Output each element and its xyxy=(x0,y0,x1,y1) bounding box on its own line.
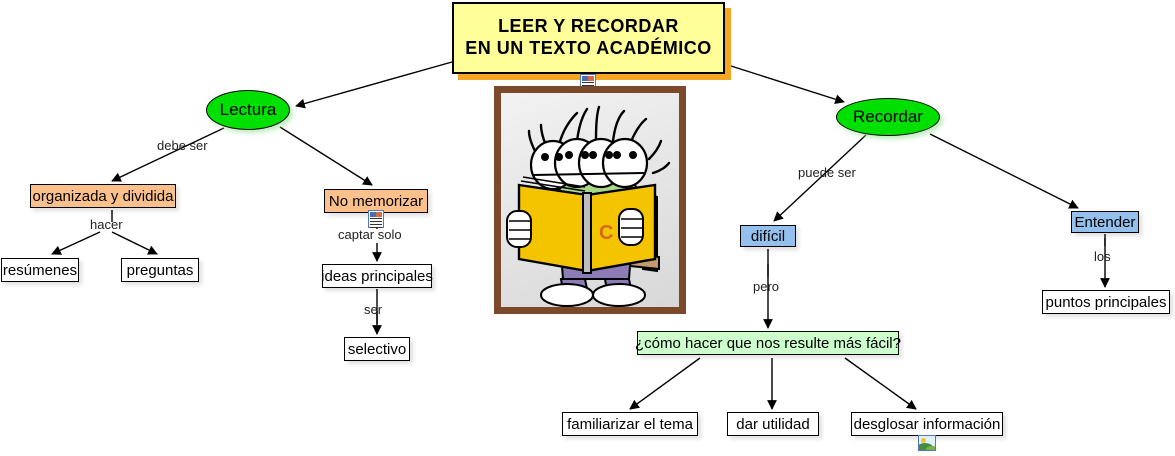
node-como-hacer[interactable]: ¿cómo hacer que nos resulte más fácil? xyxy=(637,331,899,355)
node-organizada-y-dividida[interactable]: organizada y dividida xyxy=(30,184,176,208)
document-icon[interactable] xyxy=(368,210,384,228)
image-icon[interactable] xyxy=(918,435,936,451)
edge-organizada-preguntas xyxy=(112,232,157,254)
node-familiarizar-label: familiarizar el tema xyxy=(567,416,693,433)
edge-lectura-nomemorizar xyxy=(280,127,372,185)
node-selectivo[interactable]: selectivo xyxy=(344,337,410,361)
node-preguntas[interactable]: preguntas xyxy=(121,258,199,282)
edge-title-lectura xyxy=(296,62,452,106)
node-como-hacer-label: ¿cómo hacer que nos resulte más fácil? xyxy=(635,335,901,352)
node-puntos-principales-label: puntos principales xyxy=(1046,294,1167,311)
edge-lectura-organizada xyxy=(112,128,224,181)
title-line-2: EN UN TEXTO ACADÉMICO xyxy=(465,38,712,60)
edge-label-hacer: hacer xyxy=(90,217,123,232)
edge-label-captar-solo: captar solo xyxy=(338,227,402,242)
concept-map-canvas: LEER Y RECORDAR EN UN TEXTO ACADÉMICO xyxy=(0,0,1175,456)
node-resumenes-label: resúmenes xyxy=(3,262,77,279)
node-puntos-principales[interactable]: puntos principales xyxy=(1042,290,1170,314)
edge-label-debe-ser: debe ser xyxy=(157,138,208,153)
node-lectura-label: Lectura xyxy=(220,100,277,120)
node-recordar-label: Recordar xyxy=(853,107,923,127)
edge-label-pero: pero xyxy=(753,279,779,294)
edge-title-recordar xyxy=(731,66,844,102)
node-recordar[interactable]: Recordar xyxy=(836,98,940,136)
node-dificil[interactable]: difícil xyxy=(740,225,796,247)
edge-organizada-resumenes xyxy=(52,232,100,254)
edge-label-puede-ser: puede ser xyxy=(798,165,856,180)
node-ideas-principales-label: ideas principales xyxy=(321,268,433,285)
edge-recordar-entender xyxy=(930,134,1078,208)
edge-label-ser: ser xyxy=(364,302,382,317)
node-ideas-principales[interactable]: ideas principales xyxy=(322,264,432,288)
node-entender[interactable]: Entender xyxy=(1071,211,1139,233)
node-selectivo-label: selectivo xyxy=(348,341,406,358)
reading-illustration-svg: C Q xyxy=(501,93,679,307)
node-entender-label: Entender xyxy=(1075,214,1136,231)
node-desglosar-label: desglosar información xyxy=(854,416,1001,433)
title-node[interactable]: LEER Y RECORDAR EN UN TEXTO ACADÉMICO xyxy=(452,2,725,74)
node-organizada-label: organizada y dividida xyxy=(33,188,174,205)
reading-illustration: C Q xyxy=(494,86,686,314)
edge-comohacer-desglosar xyxy=(845,358,916,409)
edge-label-los: los xyxy=(1094,249,1111,264)
edge-comohacer-familiarizar xyxy=(630,358,700,409)
node-lectura[interactable]: Lectura xyxy=(206,90,290,130)
node-dificil-label: difícil xyxy=(751,228,785,245)
node-no-memorizar-label: No memorizar xyxy=(329,193,423,210)
node-dar-utilidad-label: dar utilidad xyxy=(736,416,809,433)
title-line-1: LEER Y RECORDAR xyxy=(498,16,679,38)
node-dar-utilidad[interactable]: dar utilidad xyxy=(727,412,819,436)
node-preguntas-label: preguntas xyxy=(127,262,194,279)
node-resumenes[interactable]: resúmenes xyxy=(1,258,79,282)
node-desglosar-informacion[interactable]: desglosar información xyxy=(851,412,1003,436)
node-familiarizar-el-tema[interactable]: familiarizar el tema xyxy=(562,412,698,436)
